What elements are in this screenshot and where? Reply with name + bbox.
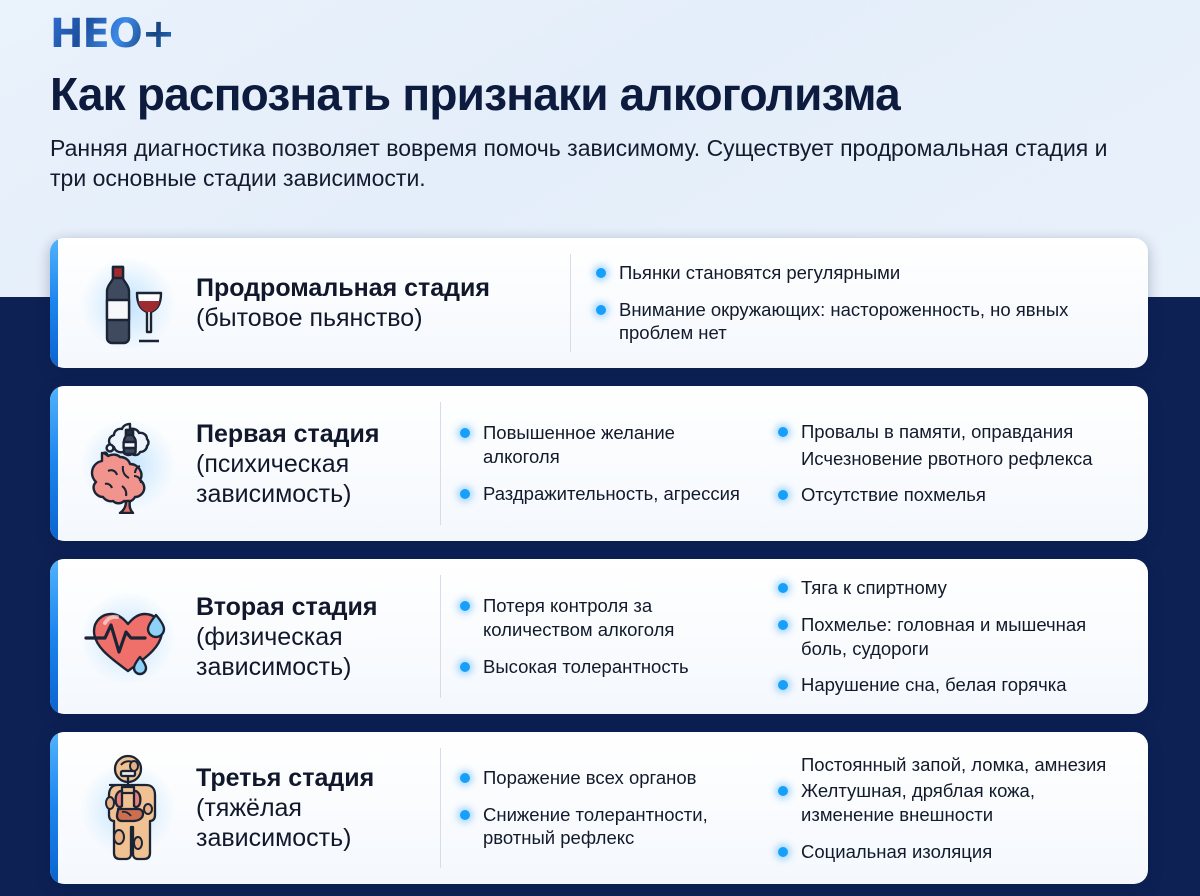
infographic-page: НЕО+ Как распознать признаки алкоголизма… bbox=[0, 0, 1200, 896]
symptom-column: Поражение всех органов Снижение толерант… bbox=[441, 766, 759, 850]
stage-title-regular: (психическая зависимость) bbox=[196, 449, 440, 509]
stage-card-list: Продромальная стадия (бытовое пьянство) … bbox=[50, 238, 1148, 896]
list-item: Тяга к спиртному bbox=[777, 576, 1117, 600]
stage-title-bold: Вторая стадия bbox=[196, 592, 440, 622]
stage-header: Первая стадия (психическая зависимость) bbox=[50, 386, 440, 541]
heart-with-pulse-icon bbox=[74, 583, 182, 691]
stage-card: Третья стадия (тяжёлая зависимость) Пора… bbox=[50, 732, 1148, 884]
stage-title-bold: Продромальная стадия bbox=[196, 273, 490, 303]
stage-card: Продромальная стадия (бытовое пьянство) … bbox=[50, 238, 1148, 368]
page-title: Как распознать признаки алкоголизма bbox=[50, 70, 1160, 120]
stage-title-bold: Первая стадия bbox=[196, 419, 440, 449]
list-item: Желтушная, дряблая кожа, изменение внешн… bbox=[777, 779, 1117, 826]
list-item: Социальная изоляция bbox=[777, 840, 1117, 864]
list-item: Исчезновение рвотного рефлекса bbox=[777, 447, 1117, 471]
symptom-column: Провалы в памяти, оправдания Исчезновени… bbox=[759, 420, 1129, 507]
symptom-list: Потеря контроля за количеством алкоголя … bbox=[459, 594, 747, 678]
list-item: Потеря контроля за количеством алкоголя bbox=[459, 594, 747, 641]
list-item: Внимание окружающих: настороженность, но… bbox=[595, 298, 1079, 345]
symptom-columns: Повышенное желание алкоголя Раздражитель… bbox=[441, 386, 1148, 541]
list-item: Высокая толерантность bbox=[459, 655, 747, 679]
list-item: Раздражительность, агрессия bbox=[459, 482, 747, 506]
stage-title: Вторая стадия (физическая зависимость) bbox=[196, 592, 440, 682]
symptom-list: Постоянный запой, ломка, амнезия Желтушн… bbox=[777, 753, 1117, 864]
brain-with-thought-bubble-icon bbox=[74, 410, 182, 518]
symptom-list: Поражение всех органов Снижение толерант… bbox=[459, 766, 747, 850]
list-item: Поражение всех органов bbox=[459, 766, 747, 790]
symptom-list: Тяга к спиртному Похмелье: головная и мы… bbox=[777, 576, 1117, 697]
symptom-column: Потеря контроля за количеством алкоголя … bbox=[441, 594, 759, 678]
page-subtitle: Ранняя диагностика позволяет вовремя пом… bbox=[50, 133, 1110, 194]
symptom-list: Провалы в памяти, оправдания Исчезновени… bbox=[777, 420, 1117, 507]
stage-header: Продромальная стадия (бытовое пьянство) bbox=[50, 238, 570, 368]
stage-header: Третья стадия (тяжёлая зависимость) bbox=[50, 732, 440, 884]
list-item: Нарушение сна, белая горячка bbox=[777, 673, 1117, 697]
stage-title-regular: (бытовое пьянство) bbox=[196, 303, 490, 333]
list-item: Пьянки становятся регулярными bbox=[595, 261, 1079, 285]
list-item: Провалы в памяти, оправдания bbox=[777, 420, 1117, 444]
list-item: Отсутствие похмелья bbox=[777, 483, 1117, 507]
header: НЕО+ Как распознать признаки алкоголизма… bbox=[50, 14, 1160, 193]
stage-card: Первая стадия (психическая зависимость) … bbox=[50, 386, 1148, 541]
list-item: Снижение толерантности, рвотный рефлекс bbox=[459, 803, 747, 850]
stage-header: Вторая стадия (физическая зависимость) bbox=[50, 559, 440, 714]
list-item: Постоянный запой, ломка, амнезия bbox=[777, 753, 1117, 777]
brand-logo: НЕО+ bbox=[50, 14, 174, 54]
symptom-column: Повышенное желание алкоголя Раздражитель… bbox=[441, 421, 759, 505]
stage-title-regular: (тяжёлая зависимость) bbox=[196, 793, 440, 853]
stage-card: Вторая стадия (физическая зависимость) П… bbox=[50, 559, 1148, 714]
stage-title: Продромальная стадия (бытовое пьянство) bbox=[196, 273, 490, 333]
list-item: Повышенное желание алкоголя bbox=[459, 421, 747, 468]
list-item: Похмелье: головная и мышечная боль, судо… bbox=[777, 613, 1117, 660]
symptom-list: Повышенное желание алкоголя Раздражитель… bbox=[459, 421, 747, 505]
wine-bottle-and-glass-icon bbox=[74, 249, 182, 357]
human-body-organs-icon bbox=[74, 754, 182, 862]
stage-title: Первая стадия (психическая зависимость) bbox=[196, 419, 440, 509]
symptom-columns: Поражение всех органов Снижение толерант… bbox=[441, 732, 1148, 884]
symptom-column: Пьянки становятся регулярными Внимание о… bbox=[571, 261, 1091, 345]
symptom-columns: Потеря контроля за количеством алкоголя … bbox=[441, 559, 1148, 714]
stage-title-bold: Третья стадия bbox=[196, 763, 440, 793]
stage-title-regular: (физическая зависимость) bbox=[196, 622, 440, 682]
symptom-list: Пьянки становятся регулярными Внимание о… bbox=[595, 261, 1079, 345]
symptom-column: Постоянный запой, ломка, амнезия Желтушн… bbox=[759, 753, 1129, 864]
stage-title: Третья стадия (тяжёлая зависимость) bbox=[196, 763, 440, 853]
symptom-column: Тяга к спиртному Похмелье: головная и мы… bbox=[759, 576, 1129, 697]
symptom-columns: Пьянки становятся регулярными Внимание о… bbox=[571, 238, 1148, 368]
